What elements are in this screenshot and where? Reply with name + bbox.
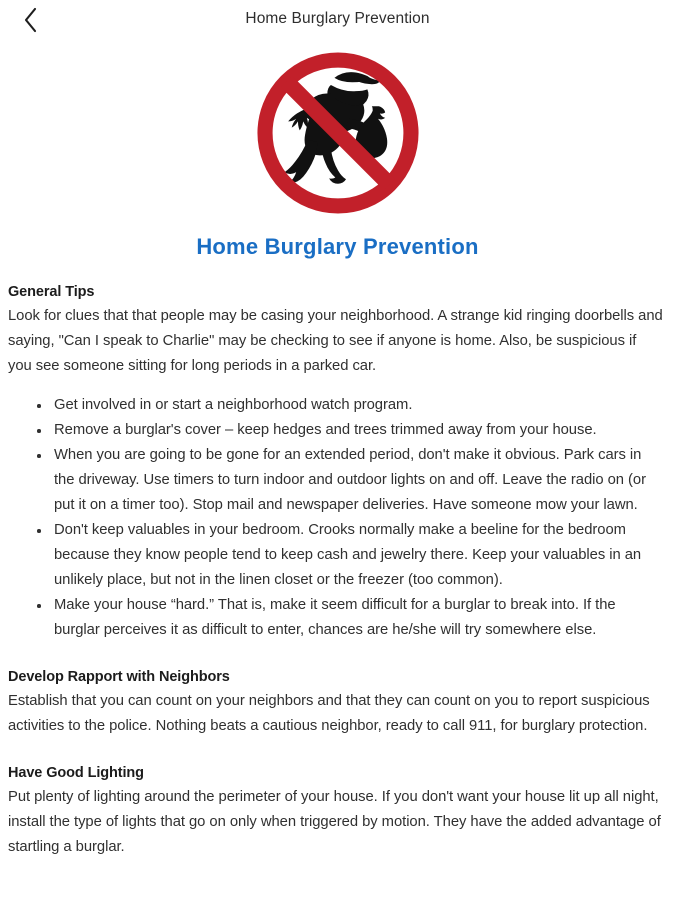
back-button[interactable] xyxy=(14,4,48,36)
section-have-good-lighting: Have Good Lighting Put plenty of lightin… xyxy=(8,765,663,860)
general-tips-list: Get involved in or start a neighborhood … xyxy=(8,393,663,643)
no-burglar-prohibition-sign-icon xyxy=(249,44,427,222)
list-item: When you are going to be gone for an ext… xyxy=(33,443,663,518)
list-item: Remove a burglar's cover – keep hedges a… xyxy=(33,418,663,443)
section-general-tips: General Tips Look for clues that that pe… xyxy=(8,284,663,643)
article-heading: Home Burglary Prevention xyxy=(0,234,675,260)
list-item: Make your house “hard.” That is, make it… xyxy=(33,593,663,643)
article-body: General Tips Look for clues that that pe… xyxy=(0,284,675,860)
chevron-left-icon xyxy=(23,7,39,33)
page-title: Home Burglary Prevention xyxy=(245,11,429,27)
section-heading: General Tips xyxy=(8,284,663,300)
list-item: Don't keep valuables in your bedroom. Cr… xyxy=(33,518,663,593)
section-heading: Develop Rapport with Neighbors xyxy=(8,669,663,685)
section-heading: Have Good Lighting xyxy=(8,765,663,781)
top-app-bar: Home Burglary Prevention xyxy=(0,0,675,38)
list-item: Get involved in or start a neighborhood … xyxy=(33,393,663,418)
section-paragraph: Look for clues that that people may be c… xyxy=(8,304,663,379)
hero-image-container xyxy=(0,38,675,230)
section-develop-rapport: Develop Rapport with Neighbors Establish… xyxy=(8,669,663,739)
section-paragraph: Put plenty of lighting around the perime… xyxy=(8,785,663,860)
section-paragraph: Establish that you can count on your nei… xyxy=(8,689,663,739)
